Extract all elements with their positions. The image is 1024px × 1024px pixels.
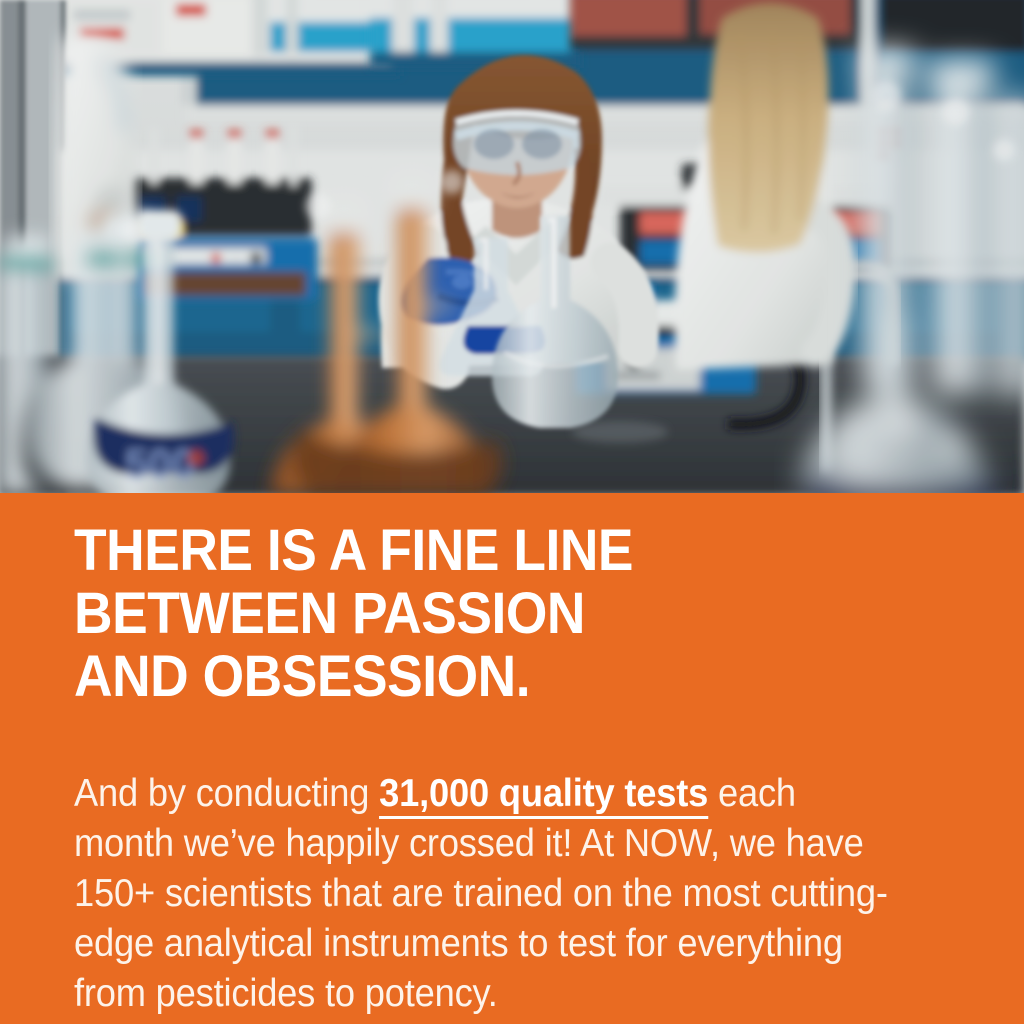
body-text-before: And by conducting: [74, 772, 379, 815]
headline: THERE IS A FINE LINE BETWEEN PASSION AND…: [74, 519, 902, 708]
orange-text-panel: THERE IS A FINE LINE BETWEEN PASSION AND…: [0, 493, 1024, 1024]
body-paragraph: And by conducting 31,000 quality tests e…: [74, 769, 892, 1019]
highlight-quality-tests: 31,000 quality tests: [379, 772, 708, 819]
lab-scene-illustration: 500: [0, 0, 1024, 493]
lab-photo: 500: [0, 0, 1024, 493]
promotional-graphic: 500: [0, 0, 1024, 1024]
